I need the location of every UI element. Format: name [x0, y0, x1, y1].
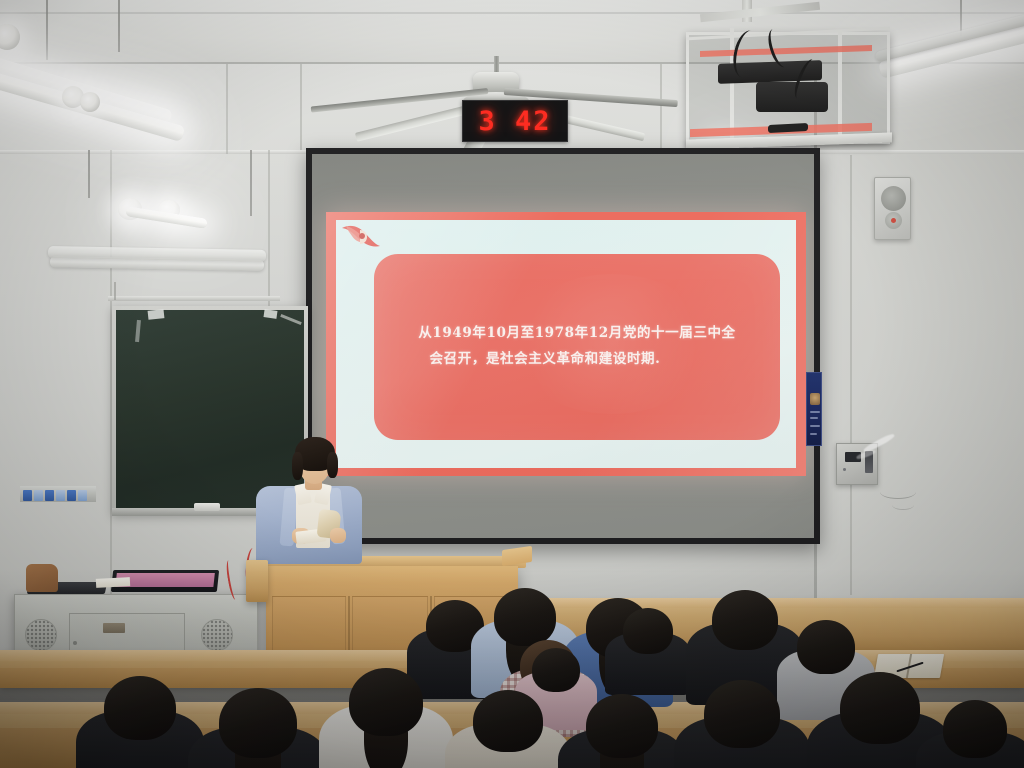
- wall-mark: [880, 485, 916, 499]
- student-head: [532, 648, 580, 692]
- chalkboard-surface: [116, 310, 304, 510]
- board-tape: [264, 309, 278, 319]
- light-hanger: [46, 0, 48, 60]
- wall-joint: [300, 64, 302, 150]
- wall-joint: [850, 155, 852, 595]
- board-top-rail: [108, 296, 280, 301]
- bag: [26, 564, 58, 592]
- student-head: [712, 590, 778, 650]
- student-head: [797, 620, 855, 674]
- console-lock[interactable]: [73, 641, 77, 645]
- student-head: [494, 588, 556, 646]
- student-head: [840, 672, 920, 744]
- light-head: [80, 92, 100, 112]
- chalk-box: [78, 490, 87, 501]
- panel-led: [843, 468, 846, 471]
- poster-image: [810, 393, 820, 405]
- student-head: [704, 680, 780, 748]
- clock-display: 3 42: [478, 106, 551, 137]
- chalk-box: [45, 490, 54, 501]
- presenter-hair: [292, 452, 303, 480]
- poster-text-line: [810, 433, 817, 435]
- presenter-hair: [327, 452, 338, 478]
- poster-text-line: [810, 425, 820, 427]
- wall-speaker: [874, 177, 911, 240]
- green-chalkboard: [112, 306, 308, 514]
- slide-line-1: 从1949年10月至1978年12月党的十一届三中全: [418, 321, 735, 347]
- lecture-hall-photo: 3 42: [0, 0, 1024, 768]
- projection-screen-surface: 从1949年10月至1978年12月党的十一届三中全 会召开，是社会主义革命和建…: [312, 154, 814, 538]
- wall-joint: [660, 64, 662, 150]
- student-head: [349, 668, 423, 736]
- chalk-box: [23, 490, 32, 501]
- ceiling-seam: [0, 12, 1024, 14]
- light-hanger: [118, 0, 120, 52]
- slide-text-card: 从1949年10月至1978年12月党的十一届三中全 会召开，是社会主义革命和建…: [374, 254, 780, 440]
- wall-joint: [226, 64, 228, 154]
- wood-side-panel: [246, 560, 268, 602]
- student-head: [219, 688, 297, 758]
- presenter-hand: [330, 528, 346, 543]
- student-head: [473, 690, 543, 752]
- student-head: [104, 676, 176, 740]
- student-head: [586, 694, 658, 758]
- wall-mark: [892, 500, 914, 510]
- chalk-shelf: [20, 486, 96, 502]
- console-speaker-grille: [201, 619, 233, 651]
- light-hanger: [88, 150, 90, 198]
- console-badge: [103, 623, 125, 633]
- monitor-screen: [115, 573, 214, 587]
- board-tape: [148, 309, 165, 320]
- board-hanger: [114, 282, 116, 300]
- light-hanger: [250, 150, 252, 216]
- speaker-indicator: [891, 218, 896, 223]
- student-head: [623, 608, 673, 654]
- projector-lens-block: [756, 82, 828, 112]
- console-speaker-grille: [25, 619, 57, 651]
- slide-background: 从1949年10月至1978年12月党的十一届三中全 会召开，是社会主义革命和建…: [336, 220, 796, 468]
- chalk-box: [34, 490, 43, 501]
- wall-poster: [806, 372, 822, 446]
- chalk-box: [67, 490, 76, 501]
- projection-screen-frame: 从1949年10月至1978年12月党的十一届三中全 会召开，是社会主义革命和建…: [306, 148, 820, 544]
- chalk-box: [56, 490, 65, 501]
- poster-text-line: [810, 411, 820, 413]
- speaker-woofer: [881, 186, 906, 211]
- poster-text-line: [810, 417, 818, 419]
- student-head: [943, 700, 1007, 758]
- presentation-slide: 从1949年10月至1978年12月党的十一届三中全 会召开，是社会主义革命和建…: [326, 212, 806, 476]
- red-ribbon-icon: [340, 222, 384, 254]
- paper-stack: [96, 577, 130, 588]
- led-clock: 3 42: [462, 100, 568, 142]
- slide-line-2: 会召开，是社会主义革命和建设时期.: [430, 347, 725, 373]
- board-eraser: [194, 503, 220, 511]
